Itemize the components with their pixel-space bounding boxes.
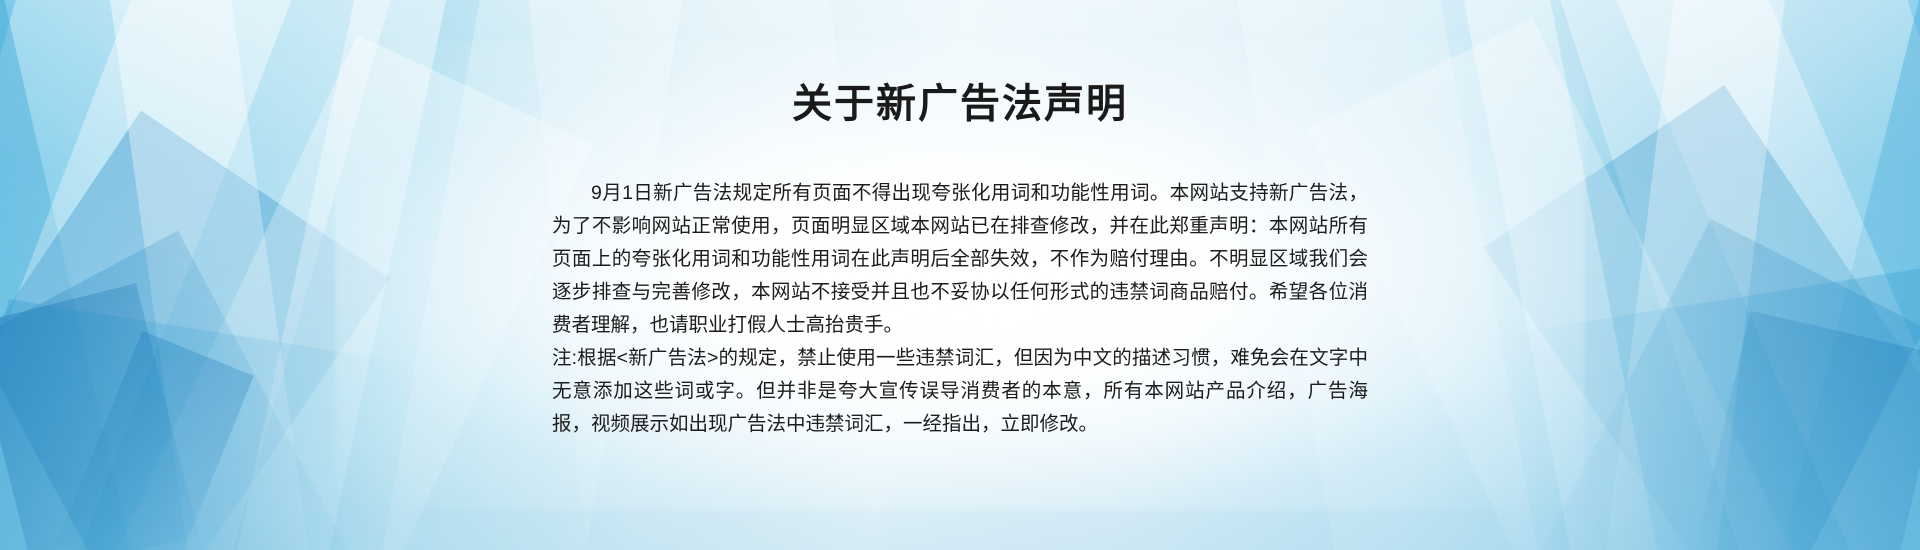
statement-content: 关于新广告法声明 9月1日新广告法规定所有页面不得出现夸张化用词和功能性用词。本… [0,0,1920,550]
advertising-law-statement-banner: 关于新广告法声明 9月1日新广告法规定所有页面不得出现夸张化用词和功能性用词。本… [0,0,1920,550]
statement-body: 9月1日新广告法规定所有页面不得出现夸张化用词和功能性用词。本网站支持新广告法，… [552,177,1368,441]
statement-paragraph-1: 9月1日新广告法规定所有页面不得出现夸张化用词和功能性用词。本网站支持新广告法，… [552,177,1368,342]
page-title: 关于新广告法声明 [792,80,1128,128]
statement-paragraph-2: 注:根据<新广告法>的规定，禁止使用一些违禁词汇，但因为中文的描述习惯，难免会在… [552,342,1368,441]
